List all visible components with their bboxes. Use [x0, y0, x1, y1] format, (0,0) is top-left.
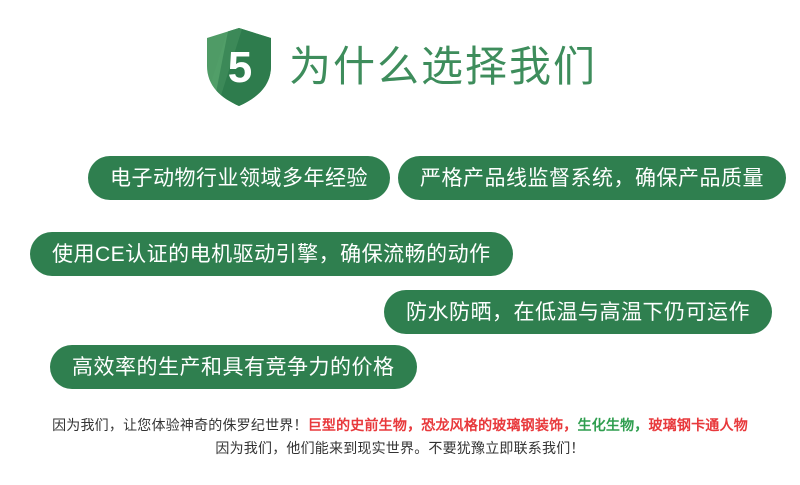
banner-header: 5 为什么选择我们: [0, 26, 800, 108]
feature-pill-3: 使用CE认证的电机驱动引擎，确保流畅的动作: [30, 232, 513, 276]
footer-line1-prefix: 因为我们，让您体验神奇的侏罗纪世界！: [52, 417, 308, 433]
shield-number: 5: [228, 43, 252, 92]
why-choose-us-banner: 5 为什么选择我们 电子动物行业领域多年经验 严格产品线监督系统，确保产品质量 …: [0, 0, 800, 485]
feature-pill-4: 防水防晒，在低温与高温下仍可运作: [384, 290, 772, 334]
footer-paragraph: 因为我们，让您体验神奇的侏罗纪世界！巨型的史前生物，恐龙风格的玻璃钢装饰，生化生…: [0, 414, 800, 460]
footer-line1-highlight-green: 生化生物，: [578, 417, 649, 433]
page-title: 为什么选择我们: [289, 44, 597, 90]
footer-line1-highlight-red-a: 巨型的史前生物，恐龙风格的玻璃钢装饰，: [308, 417, 578, 433]
footer-line-1: 因为我们，让您体验神奇的侏罗纪世界！巨型的史前生物，恐龙风格的玻璃钢装饰，生化生…: [0, 414, 800, 437]
shield-icon: 5: [203, 26, 275, 108]
footer-line-2: 因为我们，他们能来到现实世界。不要犹豫立即联系我们！: [0, 437, 800, 460]
feature-pill-1: 电子动物行业领域多年经验: [88, 156, 390, 200]
footer-line1-highlight-red-b: 玻璃钢卡通人物: [649, 417, 748, 433]
shield-badge: 5: [203, 26, 275, 108]
feature-pill-5: 高效率的生产和具有竞争力的价格: [50, 345, 417, 389]
feature-pill-2: 严格产品线监督系统，确保产品质量: [398, 156, 786, 200]
